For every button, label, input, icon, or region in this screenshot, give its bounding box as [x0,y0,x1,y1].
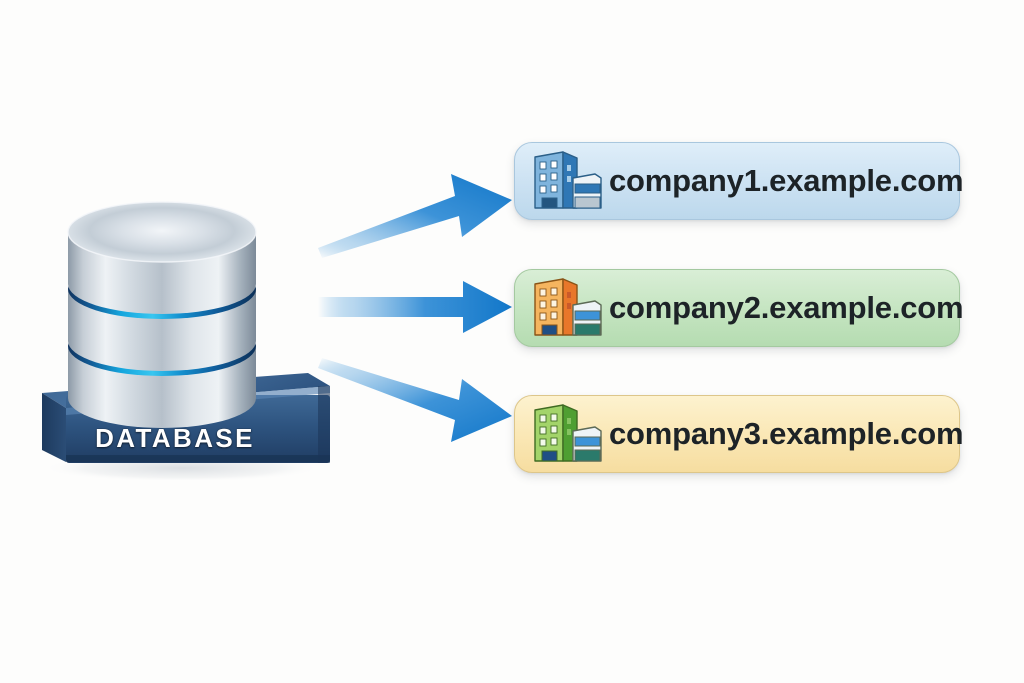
company-card-3[interactable]: company3.example.com [514,395,960,473]
company-label-2: company2.example.com [609,290,963,326]
office-building-icon [529,148,603,214]
office-building-icon [529,275,603,341]
company-label-3: company3.example.com [609,416,963,452]
company-label-1: company1.example.com [609,163,963,199]
diagram-canvas: DATABASE company1.example.com [0,0,1024,683]
office-building-icon [529,401,603,467]
database-cylinder-icon [30,150,350,480]
company-card-2[interactable]: company2.example.com [514,269,960,347]
database-graphic: DATABASE [30,150,350,480]
database-disk-top [68,202,256,314]
company-card-1[interactable]: company1.example.com [514,142,960,220]
